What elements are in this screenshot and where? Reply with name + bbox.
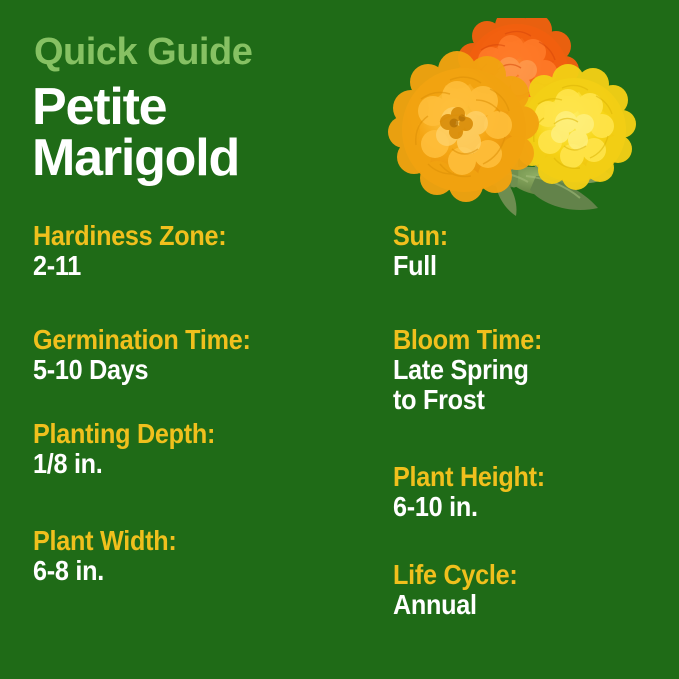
spec-value: 2-11 bbox=[33, 251, 321, 281]
spec-value: 6-8 in. bbox=[33, 556, 321, 586]
spec-label: Plant Height: bbox=[393, 463, 679, 492]
spec-bloom-time: Bloom Time: Late Spring to Frost bbox=[393, 326, 679, 415]
spec-column-right: Sun: Full Bloom Time: Late Spring to Fro… bbox=[393, 0, 679, 679]
spec-label: Planting Depth: bbox=[33, 420, 321, 449]
spec-planting-depth: Planting Depth: 1/8 in. bbox=[33, 420, 353, 479]
spec-label: Plant Width: bbox=[33, 527, 321, 556]
spec-value: Annual bbox=[393, 590, 679, 620]
spec-value: 6-10 in. bbox=[393, 492, 679, 522]
spec-plant-height: Plant Height: 6-10 in. bbox=[393, 463, 679, 522]
spec-column-left: Hardiness Zone: 2-11 Germination Time: 5… bbox=[33, 0, 363, 679]
spec-label: Life Cycle: bbox=[393, 561, 679, 590]
spec-plant-width: Plant Width: 6-8 in. bbox=[33, 527, 353, 586]
spec-label: Sun: bbox=[393, 222, 679, 251]
quick-guide-card: Quick Guide Petite Marigold bbox=[0, 0, 679, 679]
spec-label: Bloom Time: bbox=[393, 326, 679, 355]
spec-label: Germination Time: bbox=[33, 326, 321, 355]
spec-label: Hardiness Zone: bbox=[33, 222, 321, 251]
spec-germination-time: Germination Time: 5-10 Days bbox=[33, 326, 353, 385]
spec-hardiness-zone: Hardiness Zone: 2-11 bbox=[33, 222, 353, 281]
spec-value: 5-10 Days bbox=[33, 355, 321, 385]
spec-value: Full bbox=[393, 251, 679, 281]
spec-value: 1/8 in. bbox=[33, 449, 321, 479]
spec-sun: Sun: Full bbox=[393, 222, 679, 281]
spec-life-cycle: Life Cycle: Annual bbox=[393, 561, 679, 620]
spec-value: Late Spring to Frost bbox=[393, 355, 679, 415]
